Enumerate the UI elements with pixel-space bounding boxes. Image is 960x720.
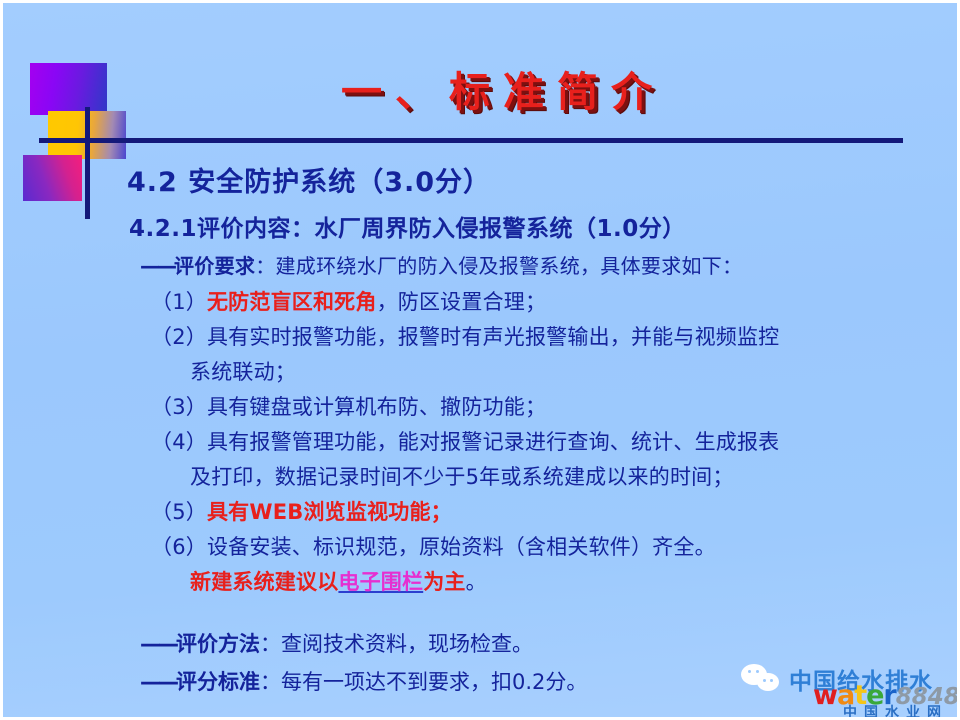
list-item: （5）具有WEB浏览监视功能； bbox=[151, 496, 452, 526]
list-item-red-text: 具有WEB浏览监视功能； bbox=[207, 500, 452, 524]
slide-canvas: 一、标准简介 4.2 安全防护系统（3.0分） 4.2.1评价内容：水厂周界防入… bbox=[0, 0, 960, 720]
decorative-square-bottom bbox=[23, 155, 82, 201]
wechat-eye-dot bbox=[763, 679, 766, 682]
list-item-text: 具有报警管理功能，能对报警记录进行查询、统计、生成报表 bbox=[207, 430, 779, 454]
wechat-eye-dot bbox=[756, 670, 759, 673]
scoring-standard: ——评分标准：每有一项达不到要求，扣0.2分。 bbox=[140, 666, 587, 696]
section-subheading: 4.2.1评价内容：水厂周界防入侵报警系统（1.0分） bbox=[129, 209, 686, 243]
vertical-divider-rule bbox=[85, 107, 90, 219]
dash-prefix: —— bbox=[140, 254, 174, 278]
requirement-lead: ——评价要求：建成环绕水厂的防入侵及报警系统，具体要求如下： bbox=[140, 250, 742, 279]
horizontal-divider-rule bbox=[65, 138, 903, 143]
list-item: （6）设备安装、标识规范，原始资料（含相关软件）齐全。 bbox=[151, 531, 716, 561]
list-item: （4）具有报警管理功能，能对报警记录进行查询、统计、生成报表 及打印，数据记录时… bbox=[151, 426, 779, 491]
list-item-number: （3） bbox=[151, 395, 207, 419]
list-item-red-text: 无防范盲区和死角 bbox=[207, 290, 377, 314]
list-item-text: ，防区设置合理； bbox=[377, 290, 547, 314]
section-heading: 4.2 安全防护系统（3.0分） bbox=[127, 160, 491, 199]
slide-title: 一、标准简介 bbox=[3, 58, 960, 118]
score-label: 评分标准 bbox=[176, 670, 260, 694]
wechat-eye-dot bbox=[770, 679, 773, 682]
list-item-text: 具有键盘或计算机布防、撤防功能； bbox=[207, 395, 546, 419]
requirement-text: ：建成环绕水厂的防入侵及报警系统，具体要求如下： bbox=[255, 254, 742, 278]
list-item: （2）具有实时报警功能，报警时有声光报警输出，并能与视频监控 系统联动； bbox=[151, 321, 779, 386]
wechat-eye-dot bbox=[748, 670, 751, 673]
note-period: 。 bbox=[466, 570, 487, 594]
watermark: 中国给水排水 water8848.com 中国水业网 bbox=[739, 658, 957, 720]
note-highlight: 电子围栏 bbox=[338, 570, 423, 594]
brand-letter-w: w bbox=[813, 680, 837, 711]
evaluation-method: ——评价方法：查阅技术资料，现场检查。 bbox=[140, 628, 533, 658]
list-item-number: （4） bbox=[151, 430, 207, 454]
list-item-number: （6） bbox=[151, 535, 207, 559]
requirement-label: 评价要求 bbox=[174, 254, 255, 278]
list-item-number: （5） bbox=[151, 500, 207, 524]
score-text: ：每有一项达不到要求，扣0.2分。 bbox=[260, 670, 587, 694]
wechat-icon bbox=[741, 662, 783, 694]
note-suffix: 为主 bbox=[423, 570, 465, 594]
list-item-number: （2） bbox=[151, 325, 207, 349]
list-item-number: （1） bbox=[151, 290, 207, 314]
list-item: （3）具有键盘或计算机布防、撤防功能； bbox=[151, 391, 546, 421]
dash-prefix: —— bbox=[140, 670, 176, 694]
list-item: （1）无防范盲区和死角，防区设置合理； bbox=[151, 286, 546, 316]
list-item-text: 设备安装、标识规范，原始资料（含相关软件）齐全。 bbox=[207, 535, 716, 559]
list-item-continuation: 系统联动； bbox=[190, 356, 779, 386]
list-item-text: 具有实时报警功能，报警时有声光报警输出，并能与视频监控 bbox=[207, 325, 779, 349]
watermark-subtitle: 中国水业网 bbox=[843, 702, 948, 720]
note-prefix: 新建系统建议以 bbox=[190, 570, 338, 594]
list-item-continuation: 及打印，数据记录时间不少于5年或系统建成以来的时间； bbox=[190, 461, 779, 491]
recommendation-note: 新建系统建议以电子围栏为主。 bbox=[190, 566, 487, 596]
method-text: ：查阅技术资料，现场检查。 bbox=[260, 632, 533, 656]
wechat-bubble-small bbox=[757, 673, 779, 691]
method-label: 评价方法 bbox=[176, 632, 260, 656]
dash-prefix: —— bbox=[140, 632, 176, 656]
